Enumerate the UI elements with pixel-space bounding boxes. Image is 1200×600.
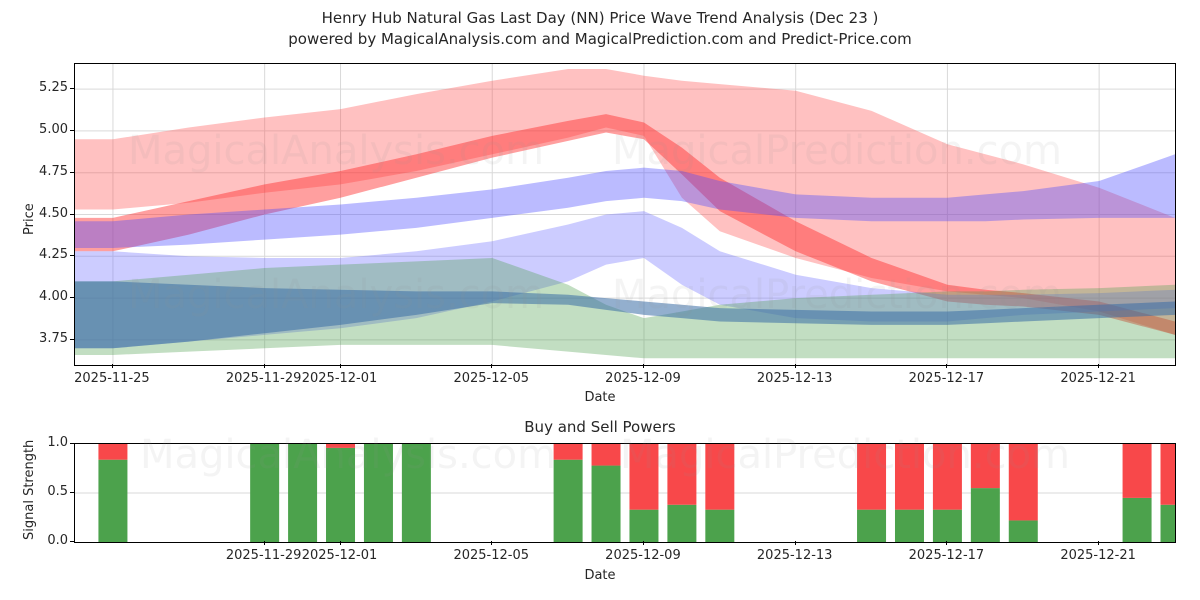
- page-title: Henry Hub Natural Gas Last Day (NN) Pric…: [0, 8, 1200, 50]
- price-xtick-2025-12-13: 2025-12-13: [745, 371, 845, 386]
- price-ytick-4.75: 4.75: [28, 164, 68, 179]
- price-ytick-5.25: 5.25: [28, 80, 68, 95]
- signal-xtick-2025-12-13: 2025-12-13: [745, 548, 845, 563]
- price-ytick-4.25: 4.25: [28, 247, 68, 262]
- price-chart-plot-area: [74, 63, 1176, 366]
- price-xtick-2025-12-09: 2025-12-09: [593, 371, 693, 386]
- buy-power-bar: [326, 448, 355, 542]
- signal-xtick-2025-12-17: 2025-12-17: [896, 548, 996, 563]
- signal-ytick-0.5: 0.5: [34, 484, 68, 499]
- title-line-2: powered by MagicalAnalysis.com and Magic…: [0, 29, 1200, 50]
- buy-power-bar: [1123, 498, 1152, 542]
- signal-ytick-mark: [70, 541, 74, 542]
- signal-xtick-mark: [795, 541, 796, 545]
- price-xtick-mark: [340, 364, 341, 368]
- signal-ytick-mark: [70, 443, 74, 444]
- signal-ytick-mark: [70, 492, 74, 493]
- sell-power-bar: [554, 444, 583, 460]
- signal-xtick-2025-12-21: 2025-12-21: [1048, 548, 1148, 563]
- buy-power-bar: [933, 510, 962, 542]
- price-ytick-mark: [70, 214, 74, 215]
- signal-xtick-2025-12-09: 2025-12-09: [593, 548, 693, 563]
- sell-power-bar: [895, 444, 924, 510]
- price-wave-svg: [75, 64, 1175, 365]
- buy-power-bar: [1161, 505, 1176, 542]
- price-xtick-mark: [112, 364, 113, 368]
- signal-ytick-0.0: 0.0: [34, 533, 68, 548]
- buy-power-bar: [1009, 520, 1038, 542]
- price-ytick-4.00: 4.00: [28, 289, 68, 304]
- signal-x-axis-title: Date: [0, 568, 1200, 583]
- price-ytick-mark: [70, 88, 74, 89]
- signal-xtick-2025-12-05: 2025-12-05: [441, 548, 541, 563]
- signal-xtick-mark: [1098, 541, 1099, 545]
- signal-xtick-2025-12-01: 2025-12-01: [290, 548, 390, 563]
- signal-chart-plot-area: [74, 443, 1176, 543]
- price-xtick-2025-12-01: 2025-12-01: [290, 371, 390, 386]
- price-xtick-mark: [795, 364, 796, 368]
- price-x-axis-title: Date: [0, 390, 1200, 405]
- sell-power-bar: [667, 444, 696, 505]
- sell-power-bar: [971, 444, 1000, 488]
- price-ytick-mark: [70, 339, 74, 340]
- price-ytick-mark: [70, 297, 74, 298]
- price-ytick-5.00: 5.00: [28, 122, 68, 137]
- signal-xtick-mark: [643, 541, 644, 545]
- sell-power-bar: [98, 444, 127, 460]
- price-xtick-2025-12-17: 2025-12-17: [896, 371, 996, 386]
- signal-xtick-mark: [264, 541, 265, 545]
- sell-power-bar: [592, 444, 621, 466]
- signal-xtick-mark: [491, 541, 492, 545]
- buy-sell-bars-svg: [75, 444, 1175, 542]
- buy-power-bar: [250, 444, 279, 542]
- buy-power-bar: [364, 444, 393, 542]
- sell-power-bar: [705, 444, 734, 510]
- price-xtick-mark: [1098, 364, 1099, 368]
- price-xtick-mark: [264, 364, 265, 368]
- buy-power-bar: [895, 510, 924, 542]
- sell-power-bar: [629, 444, 658, 510]
- price-ytick-4.50: 4.50: [28, 206, 68, 221]
- buy-power-bar: [554, 460, 583, 542]
- price-xtick-mark: [946, 364, 947, 368]
- signal-chart-title: Buy and Sell Powers: [0, 418, 1200, 436]
- price-ytick-3.75: 3.75: [28, 331, 68, 346]
- buy-power-bar: [971, 488, 1000, 542]
- buy-power-bar: [667, 505, 696, 542]
- buy-power-bar: [288, 444, 317, 542]
- sell-power-bar: [1161, 444, 1176, 505]
- sell-power-bar: [326, 444, 355, 448]
- buy-power-bar: [402, 444, 431, 542]
- signal-ytick-1.0: 1.0: [34, 435, 68, 450]
- price-xtick-2025-11-25: 2025-11-25: [62, 371, 162, 386]
- sell-power-bar: [1009, 444, 1038, 520]
- buy-power-bar: [857, 510, 886, 542]
- sell-power-bar: [933, 444, 962, 510]
- sell-power-bar: [857, 444, 886, 510]
- sell-power-bar: [1123, 444, 1152, 498]
- price-xtick-mark: [643, 364, 644, 368]
- chart-page: Henry Hub Natural Gas Last Day (NN) Pric…: [0, 0, 1200, 600]
- buy-power-bar: [592, 466, 621, 542]
- price-xtick-2025-12-21: 2025-12-21: [1048, 371, 1148, 386]
- title-line-1: Henry Hub Natural Gas Last Day (NN) Pric…: [0, 8, 1200, 29]
- buy-power-bar: [629, 510, 658, 542]
- price-xtick-mark: [491, 364, 492, 368]
- buy-power-bar: [98, 460, 127, 542]
- price-ytick-mark: [70, 255, 74, 256]
- signal-xtick-mark: [340, 541, 341, 545]
- price-xtick-2025-12-05: 2025-12-05: [441, 371, 541, 386]
- price-ytick-mark: [70, 130, 74, 131]
- signal-xtick-mark: [946, 541, 947, 545]
- price-ytick-mark: [70, 172, 74, 173]
- buy-power-bar: [705, 510, 734, 542]
